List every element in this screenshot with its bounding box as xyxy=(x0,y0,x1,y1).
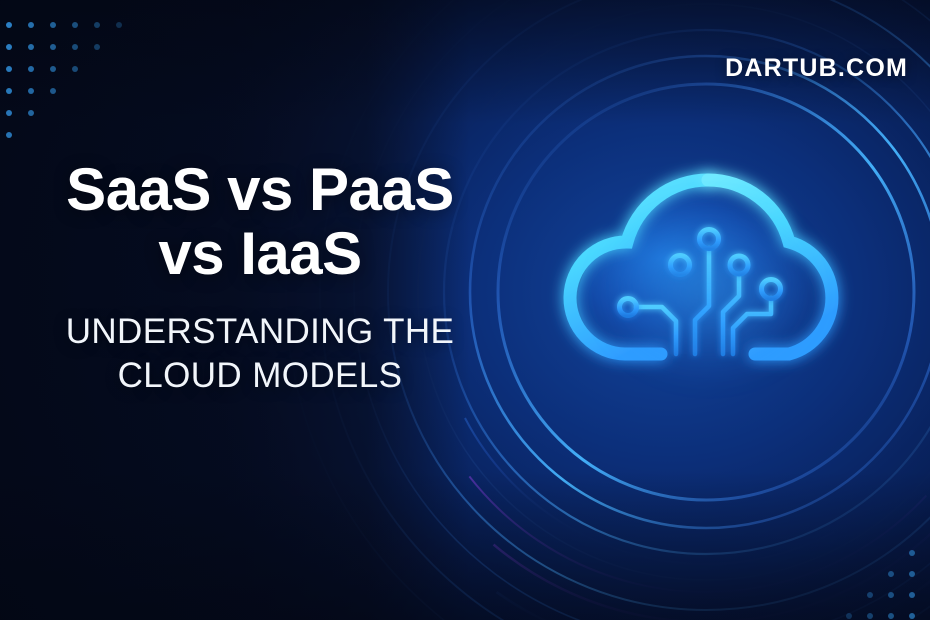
subhead-line-1: UNDERSTANDING THE xyxy=(66,312,455,351)
cloud-glow xyxy=(561,170,857,410)
headline-line-1: SaaS vs PaaS xyxy=(66,156,454,223)
page-subtitle: UNDERSTANDING THE CLOUD MODELS xyxy=(0,310,520,398)
page-title: SaaS vs PaaS vs IaaS xyxy=(0,158,520,286)
poster-canvas: SaaS vs PaaS vs IaaS UNDERSTANDING THE C… xyxy=(0,0,930,620)
cloud-circuit-icon xyxy=(533,128,883,458)
headline-line-2: vs IaaS xyxy=(158,220,361,287)
site-watermark: DARTUB.COM xyxy=(725,54,908,83)
title-block: SaaS vs PaaS vs IaaS UNDERSTANDING THE C… xyxy=(0,158,520,399)
subhead-line-2: CLOUD MODELS xyxy=(118,356,403,395)
